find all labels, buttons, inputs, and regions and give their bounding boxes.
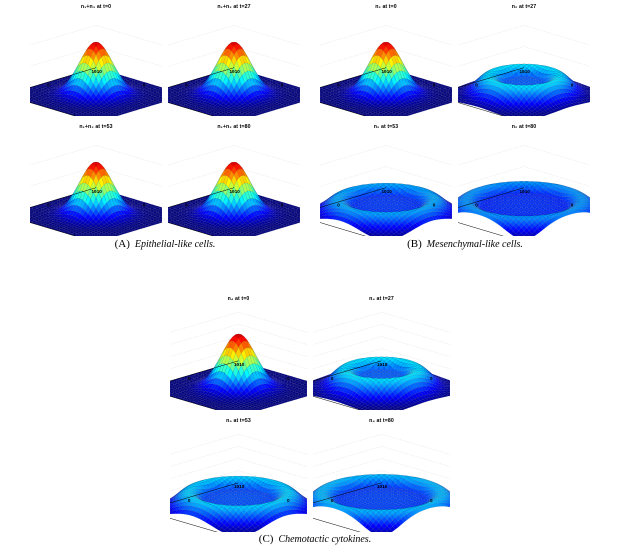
surface-plot: 02468-10010100-10 (313, 303, 450, 410)
surface-plot: 02468-10010100-10 (313, 425, 450, 532)
panel-title: n₄ at t=0 (170, 296, 307, 302)
caption-c-label: (C) (259, 533, 274, 545)
panel-title: n₂ at t=0 (320, 4, 452, 10)
caption-a-text: Epithelial-like cells. (130, 239, 216, 250)
panel-c-t53: n₄ at t=53 02468-10010100-10 (170, 418, 307, 532)
svg-text:10: 10 (229, 189, 235, 194)
panel-title: n₂ at t=80 (458, 124, 590, 130)
surface-plot: 024-10010100-10 (320, 11, 452, 116)
panel-b-t27: n₂ at t=27 024-10010100-10 (458, 4, 590, 116)
svg-text:0: 0 (143, 83, 146, 88)
surface-plot: 024-10010100-10 (458, 11, 590, 116)
figure-root: n₁+n₃ at t=0 024-10010100-10 n₁+n₃ at t=… (0, 0, 632, 559)
svg-text:0: 0 (47, 83, 50, 88)
svg-text:0: 0 (281, 83, 284, 88)
subfigure-c-panel-grid: n₄ at t=0 02468-10010100-10 n₄ at t=27 0… (170, 296, 450, 528)
surface-plot: 02468-10010100-10 (170, 303, 307, 410)
panel-title: n₂ at t=27 (458, 4, 590, 10)
subfigure-a-panel-grid: n₁+n₃ at t=0 024-10010100-10 n₁+n₃ at t=… (30, 4, 300, 234)
panel-title: n₁+n₃ at t=53 (30, 124, 162, 130)
surface-plot: 024-10010100-10 (30, 11, 162, 116)
panel-c-t80: n₄ at t=80 02468-10010100-10 (313, 418, 450, 532)
panel-title: n₄ at t=80 (313, 418, 450, 424)
subfigure-c: n₄ at t=0 02468-10010100-10 n₄ at t=27 0… (170, 296, 450, 528)
caption-c: (C)Chemotactic cytokines. (150, 533, 480, 545)
svg-text:0: 0 (143, 203, 146, 208)
panel-title: n₂ at t=53 (320, 124, 452, 130)
surface-plot: 024-10010100-10 (458, 131, 590, 236)
caption-b-text: Mesenchymal-like cells. (422, 239, 523, 250)
surface-plot: 02468-10010100-10 (170, 425, 307, 532)
panel-title: n₄ at t=27 (313, 296, 450, 302)
surface-plot: 024-10010100-10 (168, 11, 300, 116)
panel-title: n₁+n₃ at t=0 (30, 4, 162, 10)
panel-a-t27: n₁+n₃ at t=27 024-10010100-10 (168, 4, 300, 116)
panel-c-t27: n₄ at t=27 02468-10010100-10 (313, 296, 450, 410)
svg-text:0: 0 (47, 203, 50, 208)
panel-title: n₁+n₃ at t=80 (168, 124, 300, 130)
panel-title: n₄ at t=53 (170, 418, 307, 424)
svg-text:10: 10 (91, 189, 97, 194)
surface-plot: 024-10010100-10 (30, 131, 162, 236)
svg-text:10: 10 (91, 69, 97, 74)
svg-text:0: 0 (281, 203, 284, 208)
caption-b: (B)Mesenchymal-like cells. (320, 238, 610, 250)
surface-plot: 024-10010100-10 (168, 131, 300, 236)
caption-b-label: (B) (407, 238, 422, 250)
panel-a-t53: n₁+n₃ at t=53 024-10010100-10 (30, 124, 162, 236)
panel-a-t0: n₁+n₃ at t=0 024-10010100-10 (30, 4, 162, 116)
svg-text:0: 0 (185, 203, 188, 208)
subfigure-b-panel-grid: n₂ at t=0 024-10010100-10 n₂ at t=27 024… (320, 4, 590, 234)
panel-b-t80: n₂ at t=80 024-10010100-10 (458, 124, 590, 236)
panel-b-t0: n₂ at t=0 024-10010100-10 (320, 4, 452, 116)
subfigure-b: n₂ at t=0 024-10010100-10 n₂ at t=27 024… (320, 4, 590, 234)
panel-b-t53: n₂ at t=53 024-10010100-10 (320, 124, 452, 236)
panel-c-t0: n₄ at t=0 02468-10010100-10 (170, 296, 307, 410)
panel-title: n₁+n₃ at t=27 (168, 4, 300, 10)
subfigure-a: n₁+n₃ at t=0 024-10010100-10 n₁+n₃ at t=… (30, 4, 300, 234)
panel-a-t80: n₁+n₃ at t=80 024-10010100-10 (168, 124, 300, 236)
caption-a: (A)Epithelial-like cells. (30, 238, 300, 250)
surface-plot: 024-10010100-10 (320, 131, 452, 236)
caption-c-text: Chemotactic cytokines. (273, 534, 371, 545)
svg-text:0: 0 (185, 83, 188, 88)
caption-a-label: (A) (115, 238, 130, 250)
svg-text:10: 10 (229, 69, 235, 74)
